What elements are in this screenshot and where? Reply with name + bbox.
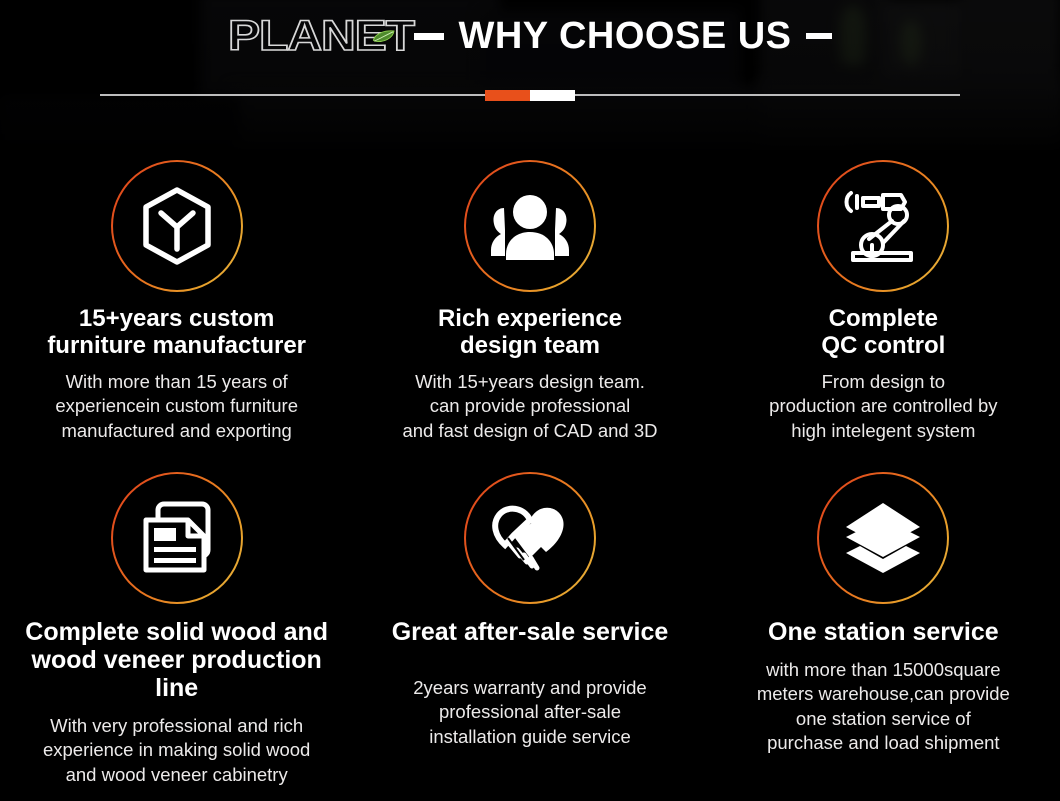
icon-ring — [817, 472, 949, 604]
feature-body: with more than 15000square meters wareho… — [757, 658, 1010, 756]
icon-ring — [817, 160, 949, 292]
feature-card-after-sale-service: Great after-sale service 2years warranty… — [353, 472, 706, 784]
feature-title: Great after-sale service — [392, 618, 669, 646]
documents-icon — [138, 500, 216, 576]
feature-body: From design to production are controlled… — [769, 370, 997, 443]
icon-ring — [464, 472, 596, 604]
feature-title: Complete solid wood and wood veneer prod… — [12, 618, 341, 702]
leaf-icon — [372, 29, 397, 44]
why-choose-us-banner: PLANET WHY CHOOSE US — [0, 0, 1060, 801]
stacked-layers-icon — [842, 499, 924, 577]
planet-logo: PLANET — [228, 15, 421, 58]
handshake-heart-icon — [490, 500, 570, 576]
icon-ring — [464, 160, 596, 292]
feature-card-one-station-service: One station service with more than 15000… — [707, 472, 1060, 784]
feature-body: 2years warranty and provide professional… — [413, 676, 646, 749]
feature-card-custom-furniture: 15+years custom furniture manufacturer W… — [0, 160, 353, 472]
feature-title: One station service — [768, 618, 999, 646]
divider-accent-white — [530, 90, 575, 101]
feature-body: With more than 15 years of experiencein … — [55, 370, 298, 443]
dash-right-icon — [806, 33, 832, 39]
feature-grid: 15+years custom furniture manufacturer W… — [0, 160, 1060, 784]
feature-card-production-line: Complete solid wood and wood veneer prod… — [0, 472, 353, 784]
robot-arm-icon — [843, 187, 923, 265]
people-group-icon — [488, 190, 572, 262]
feature-body: With 15+years design team. can provide p… — [402, 370, 657, 443]
feature-title: 15+years custom furniture manufacturer — [47, 306, 306, 360]
feature-card-design-team: Rich experience design team With 15+year… — [353, 160, 706, 472]
divider-accent-orange — [485, 90, 530, 101]
cube-box-icon — [140, 186, 214, 266]
header: PLANET WHY CHOOSE US — [0, 0, 1060, 110]
feature-body: With very professional and rich experien… — [43, 714, 310, 787]
page-title: WHY CHOOSE US — [458, 15, 791, 58]
feature-title: Complete QC control — [821, 306, 945, 360]
feature-title: Rich experience design team — [438, 306, 622, 360]
divider — [0, 88, 1060, 102]
icon-ring — [111, 160, 243, 292]
divider-accent — [485, 90, 575, 101]
icon-ring — [111, 472, 243, 604]
feature-card-qc-control: Complete QC control From design to produ… — [707, 160, 1060, 472]
